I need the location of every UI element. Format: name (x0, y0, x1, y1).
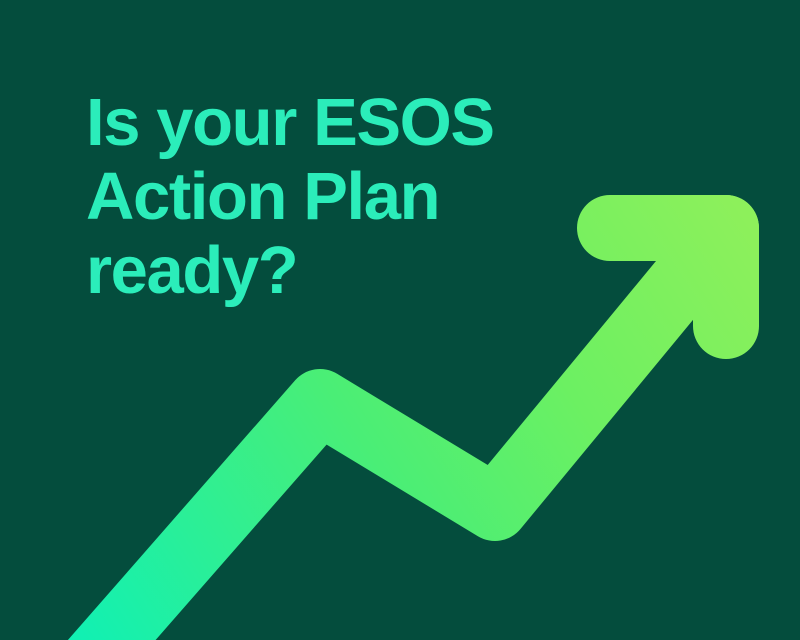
poster-canvas: Is your ESOS Action Plan ready? (0, 0, 800, 640)
page-title: Is your ESOS Action Plan ready? (86, 86, 556, 308)
